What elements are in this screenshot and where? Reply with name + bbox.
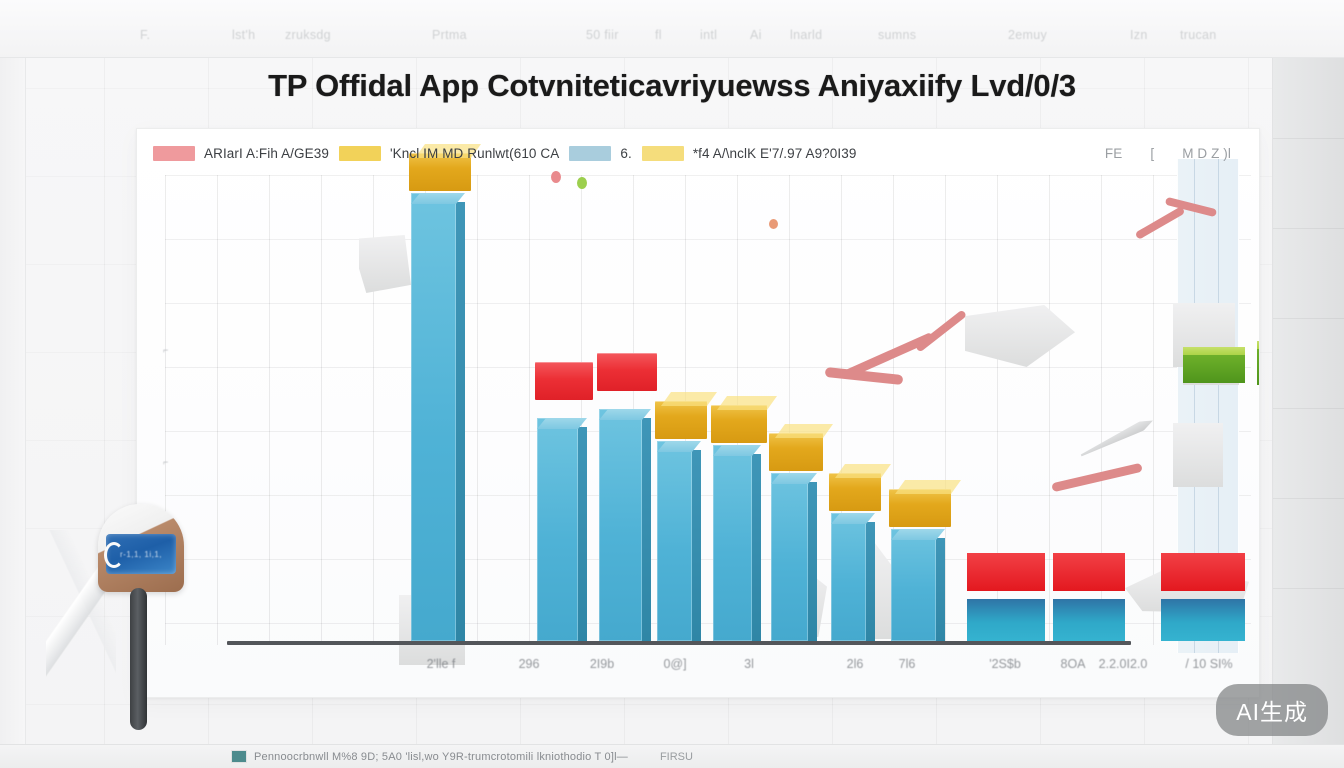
chart-card: ARIarI A:Fih A/GE39'Kncl IM MD Runlwt(61…	[136, 128, 1260, 698]
toolbar-ghost-label: F.	[140, 28, 150, 42]
x-axis-label: 0@]	[663, 657, 686, 671]
bar-top-face	[411, 193, 465, 204]
bar-side-face	[578, 427, 587, 641]
mini-bar-blue-segment	[967, 599, 1045, 641]
bar-side-face	[456, 202, 465, 641]
toolbar-ghost-label: 50 fiir	[586, 28, 619, 42]
bar-cap-gold	[655, 401, 707, 439]
bar-side-face	[866, 522, 875, 641]
chart-bar[interactable]	[537, 418, 587, 641]
bar-front-face	[411, 193, 456, 641]
bar-front-face	[657, 441, 692, 641]
bar-side-face	[808, 482, 817, 641]
toolbar-ghost-label: intl	[700, 28, 717, 42]
legend-note: M D Z )l	[1182, 146, 1231, 161]
legend-swatch	[569, 146, 611, 161]
legend-item[interactable]: 'Kncl IM MD Runlwt(610 CA	[339, 146, 559, 161]
bar-cap-highlight	[895, 480, 961, 494]
x-axis-label: 2l6	[847, 657, 864, 671]
chart-bar[interactable]	[891, 529, 945, 641]
legend-label: 6.	[620, 146, 631, 161]
legend-swatch	[153, 146, 195, 161]
magnifier-device[interactable]: r-1,1, 1i,1,	[46, 500, 196, 730]
magnifier-ring-icon	[104, 542, 124, 568]
coral-line-fragment	[1135, 206, 1186, 240]
chart-bar[interactable]	[831, 513, 875, 641]
y-tick: ⌐	[163, 457, 173, 463]
status-indicator-chip	[232, 751, 246, 762]
chart-bar[interactable]	[771, 473, 817, 641]
green-block-body	[1257, 349, 1260, 385]
status-text: Pennoocrbnwll M%8 9D; 5A0 'lisl,wo Y9R-t…	[254, 751, 628, 763]
bar-front-face	[537, 418, 578, 641]
mini-bar-red-segment	[967, 553, 1045, 591]
x-axis-line	[227, 641, 1131, 645]
bar-cap-gold	[829, 473, 881, 511]
bar-front-face	[771, 473, 808, 641]
chart-bar[interactable]	[713, 445, 761, 641]
bar-side-face	[692, 450, 701, 641]
x-axis-label: 3l	[744, 657, 754, 671]
x-axis-label: '2S$b	[989, 657, 1021, 671]
status-bar: Pennoocrbnwll M%8 9D; 5A0 'lisl,wo Y9R-t…	[0, 744, 1344, 768]
toolbar-ghost-label: sumns	[878, 28, 916, 42]
toolbar-ghost-label: trucan	[1180, 28, 1217, 42]
x-axis-label: 7l6	[899, 657, 916, 671]
bar-side-face	[642, 418, 651, 641]
artifact-fragment	[965, 305, 1075, 367]
legend-label: *f4 A/\nclK E'7/.97 A9?0I39	[693, 146, 857, 161]
coral-line-fragment	[915, 309, 967, 352]
bar-front-face	[713, 445, 752, 641]
legend-swatch	[642, 146, 684, 161]
right-rail[interactable]	[1272, 58, 1344, 768]
mini-stacked-bar[interactable]	[1161, 553, 1245, 641]
legend-note: FE	[1105, 146, 1122, 161]
bar-cap-highlight	[775, 424, 833, 438]
toolbar-ghost-label: Ai	[750, 28, 762, 42]
coral-line-fragment	[1051, 463, 1143, 492]
x-axis-label: 2.2.0I2.0	[1099, 657, 1148, 671]
legend-item[interactable]: *f4 A/\nclK E'7/.97 A9?0I39	[642, 146, 857, 161]
bar-cap-red	[597, 353, 657, 391]
bar-side-face	[752, 454, 761, 641]
bar-front-face	[831, 513, 866, 641]
bar-side-face	[936, 538, 945, 641]
x-axis-label: 296	[519, 657, 540, 671]
toolbar-ghost-label: lst'h	[232, 28, 255, 42]
x-axis-label: / 10 SI%	[1185, 657, 1232, 671]
chart-bar[interactable]	[599, 409, 651, 641]
x-axis-label: 8OA	[1060, 657, 1085, 671]
toolbar-ghost-label: zruksdg	[285, 28, 331, 42]
artifact-fragment	[1173, 423, 1223, 487]
toolbar-ghost-label: lnarld	[790, 28, 822, 42]
page-title: TP Offidal App Cotvniteticavriyuewss Ani…	[0, 62, 1344, 110]
chart-legend[interactable]: ARIarI A:Fih A/GE39'Kncl IM MD Runlwt(61…	[153, 139, 1249, 167]
chart-bar[interactable]	[411, 193, 465, 641]
toolbar-ghost-label: Izn	[1130, 28, 1148, 42]
legend-label: 'Kncl IM MD Runlwt(610 CA	[390, 146, 559, 161]
artifact-fragment	[359, 235, 411, 293]
mini-bar-red-segment	[1161, 553, 1245, 591]
bar-front-face	[891, 529, 936, 641]
x-axis-label: 2I9b	[590, 657, 614, 671]
legend-swatch	[339, 146, 381, 161]
bar-cap-red	[535, 362, 593, 400]
mini-stacked-bar[interactable]	[1053, 553, 1125, 641]
toolbar-ghost-label: Prtma	[432, 28, 467, 42]
legend-note: [	[1150, 146, 1154, 161]
arrow-fragment	[1079, 416, 1155, 460]
bar-cap-gold	[711, 405, 767, 443]
bar-front-face	[599, 409, 642, 641]
mini-stacked-bar[interactable]	[967, 553, 1045, 641]
marker-dot	[551, 171, 561, 183]
marker-dot	[769, 219, 778, 229]
mini-bar-blue-segment	[1053, 599, 1125, 641]
toolbar-ghost-label: 2emuy	[1008, 28, 1047, 42]
bar-top-face	[599, 409, 651, 420]
bar-cap-gold	[889, 489, 951, 527]
green-block-fragment	[1257, 341, 1260, 385]
green-block-body	[1183, 355, 1245, 383]
mini-bar-blue-segment	[1161, 599, 1245, 641]
legend-item[interactable]: 6.	[569, 146, 631, 161]
ai-generated-watermark: AI生成	[1216, 684, 1328, 736]
legend-label: ARIarI A:Fih A/GE39	[204, 146, 329, 161]
left-rail[interactable]	[0, 58, 26, 768]
magnifier-handle[interactable]	[130, 588, 147, 730]
marker-dot	[577, 177, 587, 189]
y-tick: ⌐	[163, 345, 173, 351]
chart-bar[interactable]	[657, 441, 701, 641]
bar-cap-highlight	[717, 396, 777, 410]
x-axis-label: 2'lle f	[427, 657, 456, 671]
bar-top-face	[891, 529, 945, 540]
toolbar-ghost-label: fl	[655, 28, 662, 42]
legend-item[interactable]: ARIarI A:Fih A/GE39	[153, 146, 329, 161]
bar-cap-gold	[769, 433, 823, 471]
bar-cap-highlight	[661, 392, 717, 406]
bar-cap-highlight	[835, 464, 891, 478]
mini-bar-red-segment	[1053, 553, 1125, 591]
status-right-text: FIRSU	[660, 751, 693, 763]
x-axis-labels: 2'lle f2962I9b0@]3l2l67l6'2S$b8OA2.2.0I2…	[165, 657, 1251, 683]
plot-area: ⌐ ⌐	[165, 175, 1251, 645]
green-block-fragment	[1183, 347, 1245, 383]
